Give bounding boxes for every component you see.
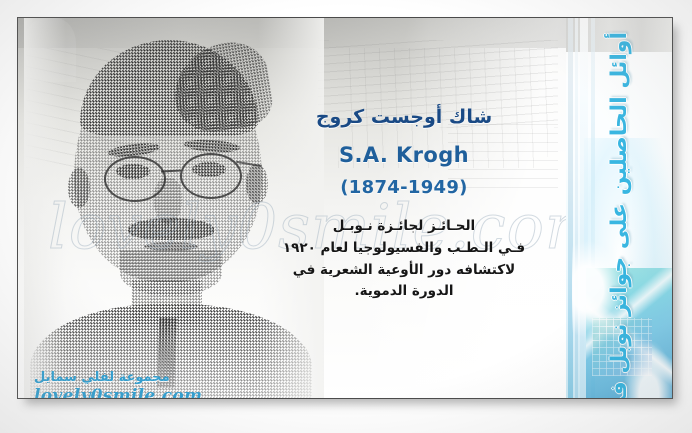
subject-name-english: S.A. Krogh xyxy=(254,143,554,167)
poster-page: lovely0smile.com شاك أوجست كروج S.A. Kro… xyxy=(0,0,692,433)
brand-name-arabic: مجموعة لفلي سمايل xyxy=(34,370,264,385)
subject-name-arabic: شاك أوجست كروج xyxy=(254,106,554,129)
portrait-collar xyxy=(24,18,76,82)
brand-block: مجموعة لفلي سمايل lovely0smile.com xyxy=(34,370,264,399)
portrait-moustache xyxy=(128,218,214,240)
portrait-spectacle-right xyxy=(180,153,242,199)
description-line: لاكتشافه دور الأوعية الشعرية في xyxy=(254,260,554,282)
poster-card: lovely0smile.com شاك أوجست كروج S.A. Kro… xyxy=(17,17,673,399)
description-line: فـي الـطـب والفسيولوجيا لعام ١٩٢٠ xyxy=(254,238,554,260)
description-arabic: الحـائـز لجائـزة نـوبـل فـي الـطـب والفس… xyxy=(254,216,554,303)
right-decorative-panel: أوائل الحاصلين على جوائز نوبل في الطب وا… xyxy=(566,18,673,399)
vertical-calligraphy: أوائل الحاصلين على جوائز نوبل في الطب وا… xyxy=(566,18,673,399)
subject-life-years: (1874-1949) xyxy=(254,177,554,198)
description-line: الحـائـز لجائـزة نـوبـل xyxy=(254,216,554,238)
vertical-calligraphy-text: أوائل الحاصلين على جوائز نوبل في الطب وا… xyxy=(609,32,631,399)
brand-website-url[interactable]: lovely0smile.com xyxy=(34,386,264,399)
portrait-ear-left xyxy=(68,168,90,208)
text-block: شاك أوجست كروج S.A. Krogh (1874-1949) ال… xyxy=(254,106,554,303)
description-line: الدورة الدموية. xyxy=(254,281,554,303)
